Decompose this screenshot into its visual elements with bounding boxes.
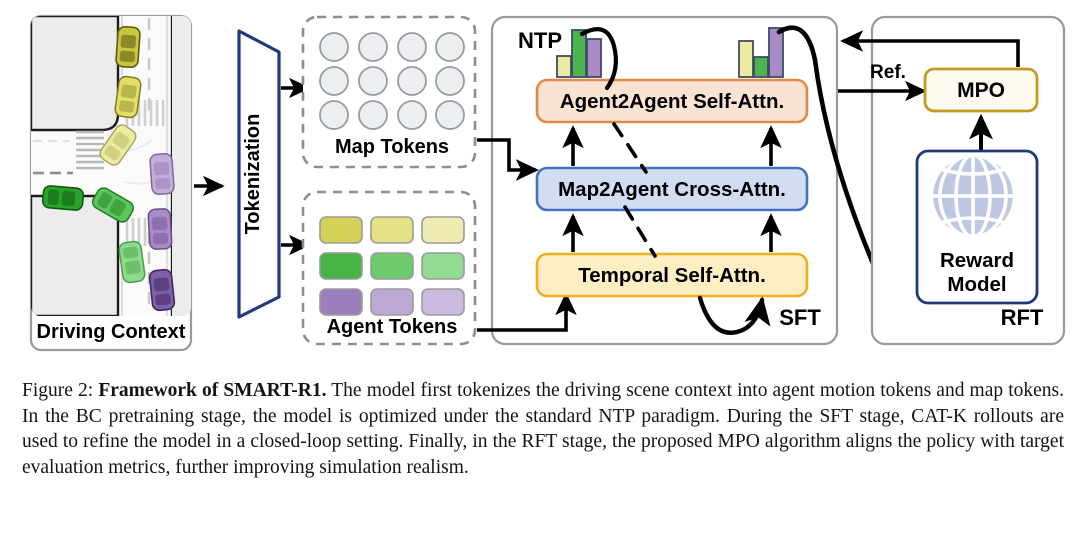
globe-icon	[932, 155, 1014, 237]
mpo-block: MPO	[925, 69, 1037, 111]
agent-token-cell	[371, 253, 413, 279]
vehicle-green-dark	[42, 185, 84, 210]
agent-token-cell	[422, 289, 464, 315]
block-map2agent-label: Map2Agent Cross-Attn.	[558, 178, 786, 201]
agent-token-cell	[371, 217, 413, 243]
agent-token-cell	[320, 253, 362, 279]
reward-model-label-line1: Reward	[940, 249, 1014, 272]
vehicle-green-light	[118, 241, 145, 284]
caption-figure-number: Figure 2:	[22, 380, 93, 401]
block-agent2agent: Agent2Agent Self-Attn.	[537, 80, 807, 122]
block-temporal-label: Temporal Self-Attn.	[578, 264, 766, 287]
driving-context-label: Driving Context	[37, 321, 186, 343]
map-tokens-label: Map Tokens	[335, 136, 449, 158]
sft-stage-label: SFT	[779, 305, 821, 330]
rft-stage-label: RFT	[1001, 305, 1044, 330]
agent-token-cell	[320, 217, 362, 243]
caption-title: Framework of SMART-R1.	[98, 380, 326, 401]
agent-token-grid	[320, 217, 464, 315]
figure-diagram: Driving Context Tokenization Map Tokens	[0, 0, 1080, 370]
block-temporal: Temporal Self-Attn.	[537, 254, 807, 296]
agent-tokens-label: Agent Tokens	[327, 316, 458, 338]
ntp-label: NTP	[518, 28, 562, 53]
agent-token-cell	[422, 217, 464, 243]
agent-token-cell	[320, 289, 362, 315]
driving-context-panel: Driving Context	[31, 16, 191, 350]
agent-token-cell	[422, 253, 464, 279]
driving-scene	[31, 16, 191, 316]
ref-label: Ref.	[870, 62, 906, 83]
figure-caption: Figure 2: Framework of SMART-R1. The mod…	[22, 378, 1064, 480]
vehicle-purple-light	[150, 153, 175, 194]
tokenization-label: Tokenization	[242, 114, 264, 235]
mpo-label: MPO	[957, 79, 1005, 102]
reward-model-block: Reward Model	[917, 151, 1037, 303]
agent-token-cell	[371, 289, 413, 315]
block-agent2agent-label: Agent2Agent Self-Attn.	[560, 90, 784, 113]
reward-model-label-line2: Model	[947, 273, 1006, 296]
vehicle-purple-dark	[149, 269, 175, 311]
vehicle-yellow-mid	[114, 76, 141, 119]
vehicle-purple-mid	[148, 208, 172, 249]
vehicle-yellow-dark	[116, 26, 141, 67]
agent-tokens-panel: Agent Tokens	[303, 192, 475, 344]
tokenization-block: Tokenization	[239, 31, 279, 317]
map-tokens-panel: Map Tokens	[303, 17, 475, 167]
block-map2agent: Map2Agent Cross-Attn.	[537, 168, 807, 210]
